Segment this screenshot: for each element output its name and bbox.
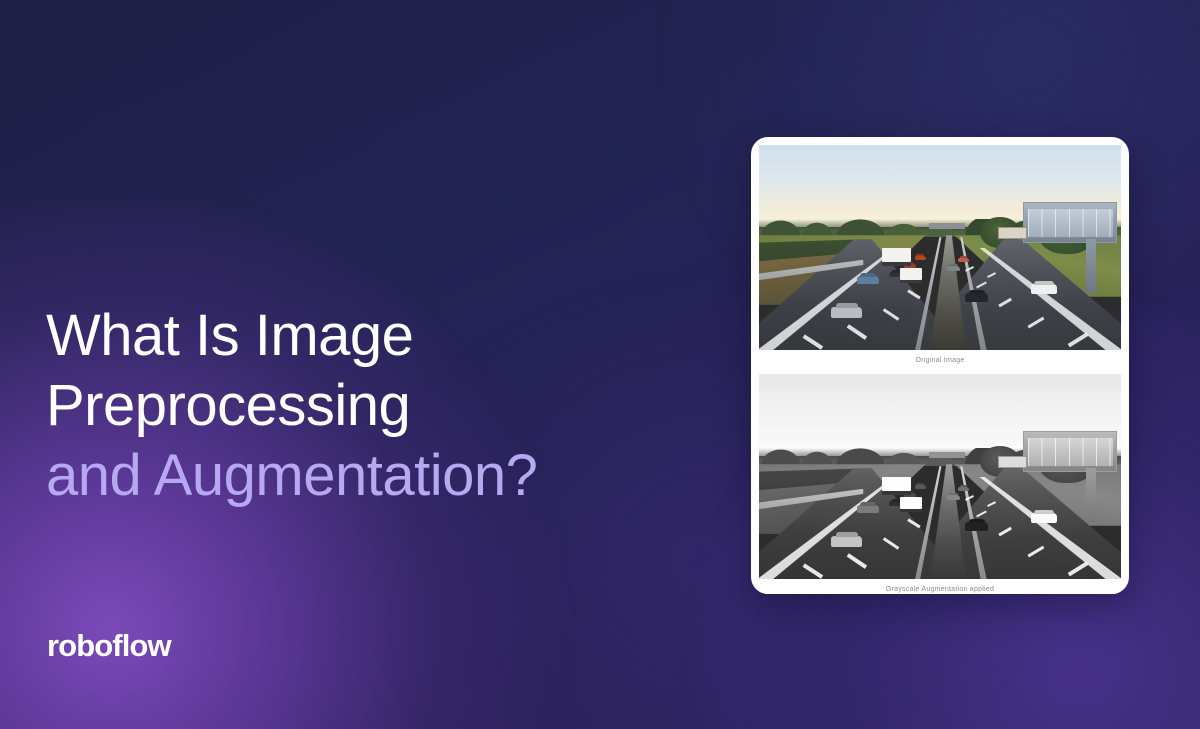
caption-original: Original Image — [759, 350, 1121, 371]
vehicle-car — [915, 485, 926, 489]
vehicle-van — [1031, 284, 1058, 294]
vehicle-car — [947, 266, 960, 271]
title-line-2: Preprocessing — [46, 371, 666, 441]
vehicle-truck — [900, 268, 922, 280]
vehicle-car — [831, 536, 862, 547]
vehicle-car — [958, 258, 969, 262]
pane-original: Original Image — [759, 145, 1121, 371]
augmented-image — [759, 374, 1121, 579]
vehicle-car — [947, 495, 960, 500]
comparison-card: Original Image — [751, 137, 1129, 594]
title-line-3: and Augmentation? — [46, 441, 666, 511]
sign-gantry — [1023, 202, 1117, 243]
vehicle-van — [1031, 513, 1058, 523]
slide-canvas: What Is Image Preprocessing and Augmenta… — [0, 0, 1200, 729]
roadside-sign — [998, 456, 1027, 468]
roadside-sign — [998, 227, 1027, 239]
vehicle-car — [965, 293, 988, 302]
vehicle-car — [857, 276, 879, 284]
vehicle-car — [915, 256, 926, 260]
vehicle-car — [965, 522, 988, 531]
vehicle-truck — [900, 497, 922, 509]
page-title: What Is Image Preprocessing and Augmenta… — [46, 301, 666, 511]
vehicle-car — [831, 307, 862, 318]
original-image — [759, 145, 1121, 350]
roboflow-logo: roboflow — [47, 628, 171, 664]
vehicle-truck — [882, 248, 911, 262]
sign-gantry-leg — [1086, 239, 1095, 292]
distant-bridge — [929, 452, 965, 458]
sign-gantry-leg — [1086, 468, 1095, 521]
distant-bridge — [929, 223, 965, 229]
vehicle-car — [958, 487, 969, 491]
vehicle-truck — [882, 477, 911, 491]
caption-augmented: Grayscale Augmentation applied — [759, 579, 1121, 594]
sign-gantry — [1023, 431, 1117, 472]
pane-augmented: Grayscale Augmentation applied — [759, 374, 1121, 594]
title-line-1: What Is Image — [46, 301, 666, 371]
vehicle-car — [857, 505, 879, 513]
